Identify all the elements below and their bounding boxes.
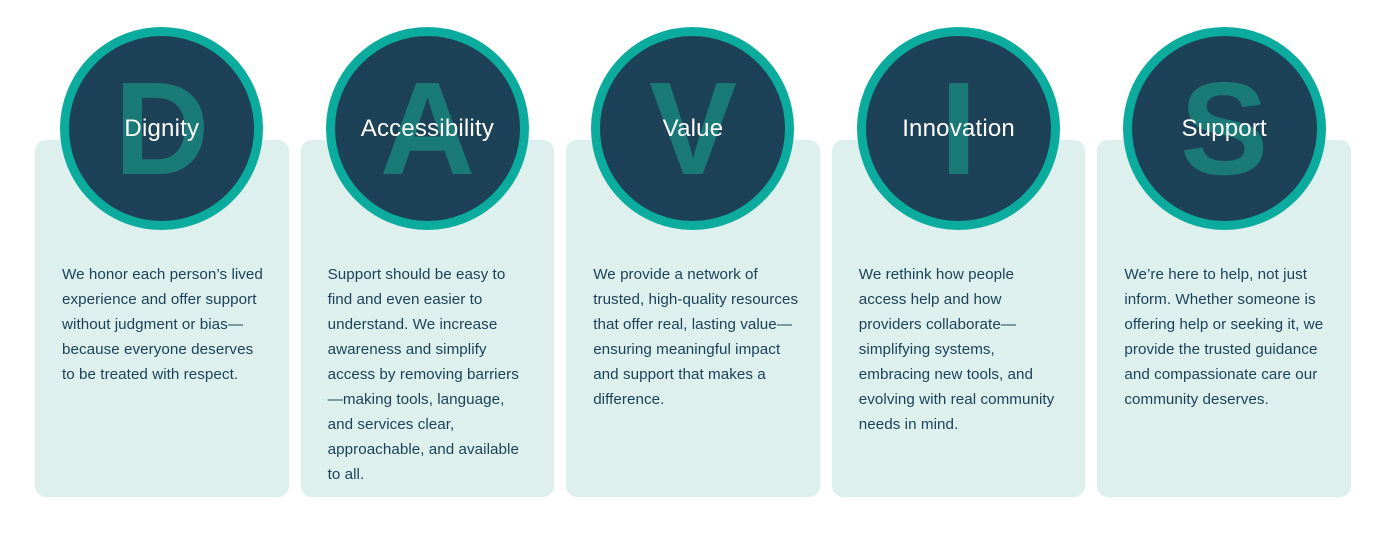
value-label-dignity: Dignity: [124, 117, 199, 141]
value-label-support: Support: [1181, 117, 1266, 141]
value-circle-support[interactable]: S Support: [1123, 27, 1326, 230]
value-circle-innovation[interactable]: I Innovation: [857, 27, 1060, 230]
value-description-support: We’re here to help, not just inform. Whe…: [1124, 262, 1329, 412]
value-label-accessibility: Accessibility: [361, 117, 494, 141]
value-description-accessibility: Support should be easy to find and even …: [328, 262, 533, 487]
value-label-value: Value: [663, 117, 724, 141]
value-circle-value[interactable]: V Value: [591, 27, 794, 230]
value-circle-accessibility[interactable]: A Accessibility: [326, 27, 529, 230]
value-circle-dignity[interactable]: D Dignity: [60, 27, 263, 230]
value-description-dignity: We honor each person’s lived experience …: [62, 262, 267, 387]
value-description-innovation: We rethink how people access help and ho…: [859, 262, 1064, 437]
value-label-innovation: Innovation: [902, 117, 1015, 141]
value-description-value: We provide a network of trusted, high-qu…: [593, 262, 798, 412]
core-values-board: We honor each person’s lived experience …: [0, 0, 1386, 534]
